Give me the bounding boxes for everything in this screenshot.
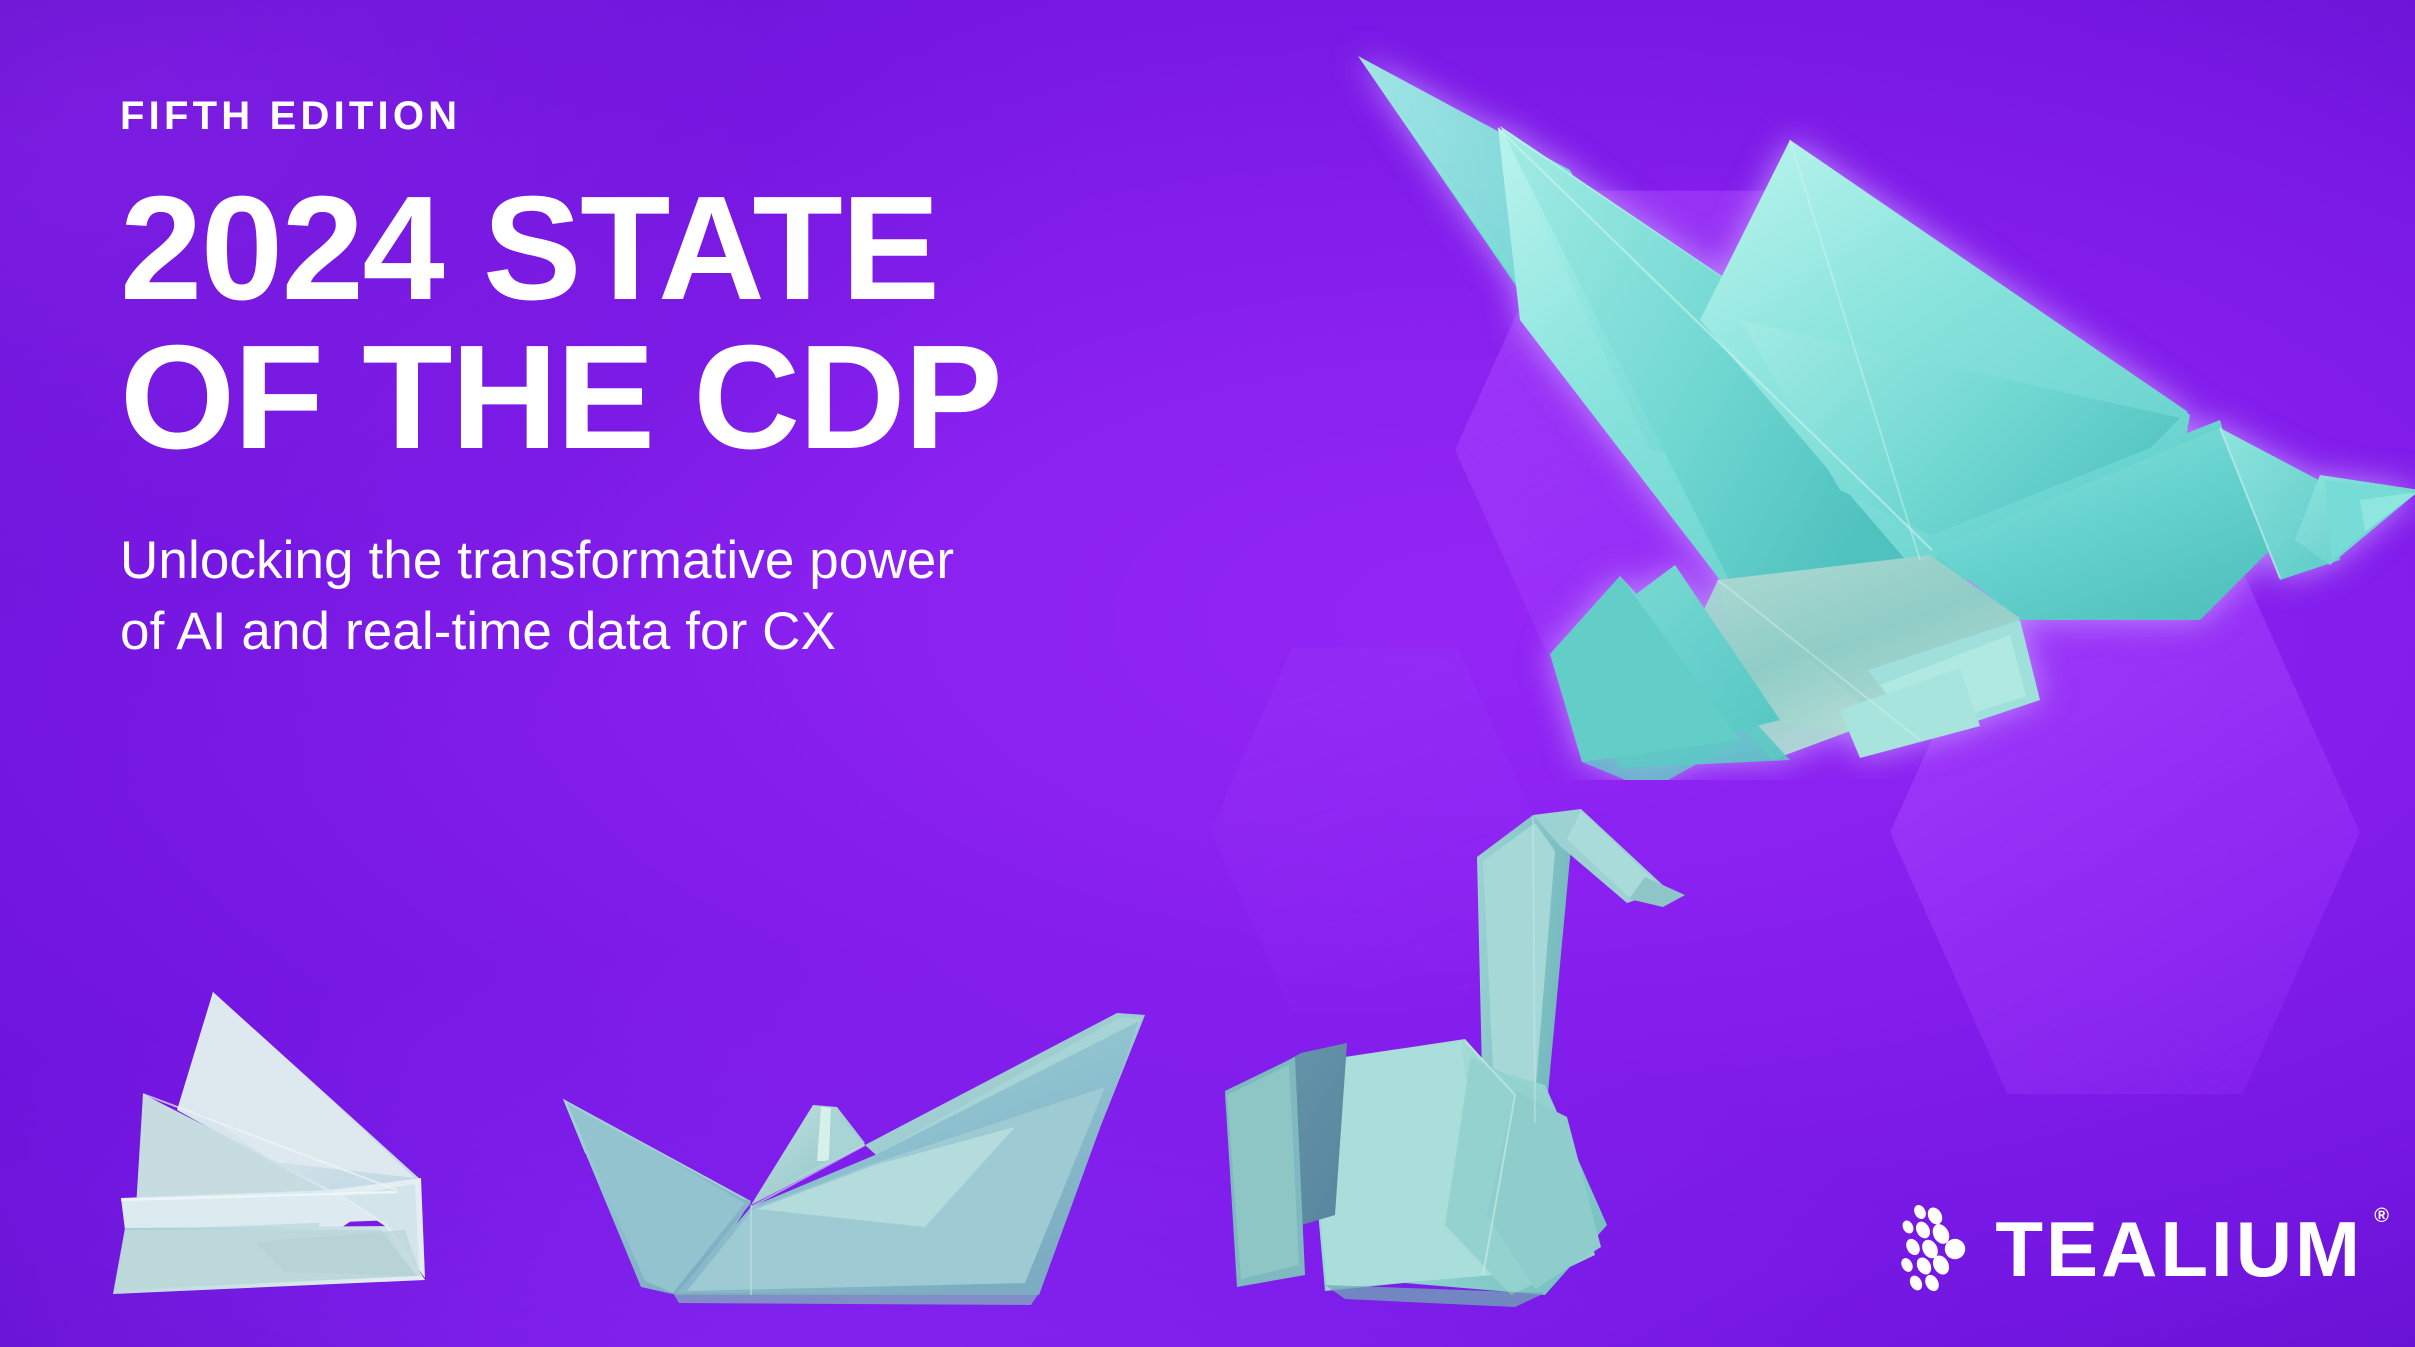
page-title: 2024 STATE OF THE CDP bbox=[120, 174, 1300, 473]
tealium-logo[interactable]: TEALIUM ® bbox=[1899, 1203, 2363, 1295]
registered-trademark-symbol: ® bbox=[2374, 1206, 2389, 1226]
tealium-wordmark: TEALIUM ® bbox=[1995, 1210, 2363, 1288]
page-subtitle: Unlocking the transformative power of AI… bbox=[120, 525, 1300, 667]
hero-copy-block: FIFTH EDITION 2024 STATE OF THE CDP Unlo… bbox=[120, 96, 1300, 667]
tealium-wordmark-text: TEALIUM bbox=[1995, 1205, 2363, 1293]
edition-eyebrow: FIFTH EDITION bbox=[120, 96, 1300, 136]
cover-canvas: FIFTH EDITION 2024 STATE OF THE CDP Unlo… bbox=[0, 0, 2415, 1347]
tealium-dot-cluster-icon bbox=[1899, 1203, 1973, 1295]
